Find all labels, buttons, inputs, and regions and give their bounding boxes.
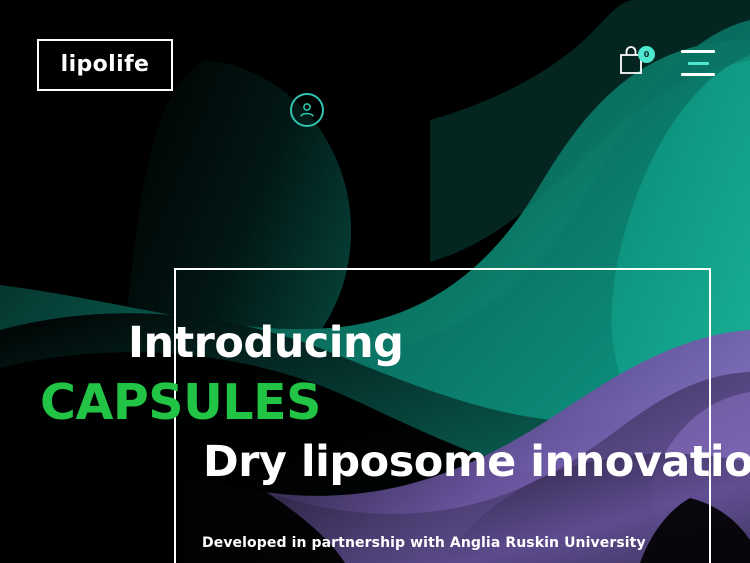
menu-bar-top [681, 50, 715, 53]
menu-bar-bottom [681, 73, 715, 76]
headline-line-capsules: CAPSULES [0, 378, 750, 427]
user-account-icon [298, 101, 316, 119]
menu-bar-middle [688, 62, 709, 65]
brand-wordmark: lipolife [61, 54, 150, 76]
headline-line-introducing: Introducing [0, 322, 750, 365]
account-button[interactable] [290, 93, 324, 127]
partnership-note: Developed in partnership with Anglia Rus… [202, 536, 646, 550]
cart-button[interactable]: 0 [618, 45, 658, 81]
brand-logo[interactable]: lipolife [37, 39, 173, 91]
hero-section: lipolife 0 Introducing CAPSULES Dry lipo… [0, 0, 750, 563]
hero-headline: Introducing CAPSULES Dry liposome innova… [0, 322, 750, 484]
cart-badge: 0 [638, 46, 655, 63]
site-header: lipolife 0 [0, 0, 750, 120]
hamburger-menu-button[interactable] [681, 50, 717, 76]
headline-line-innovation: Dry liposome innovation [0, 441, 750, 484]
